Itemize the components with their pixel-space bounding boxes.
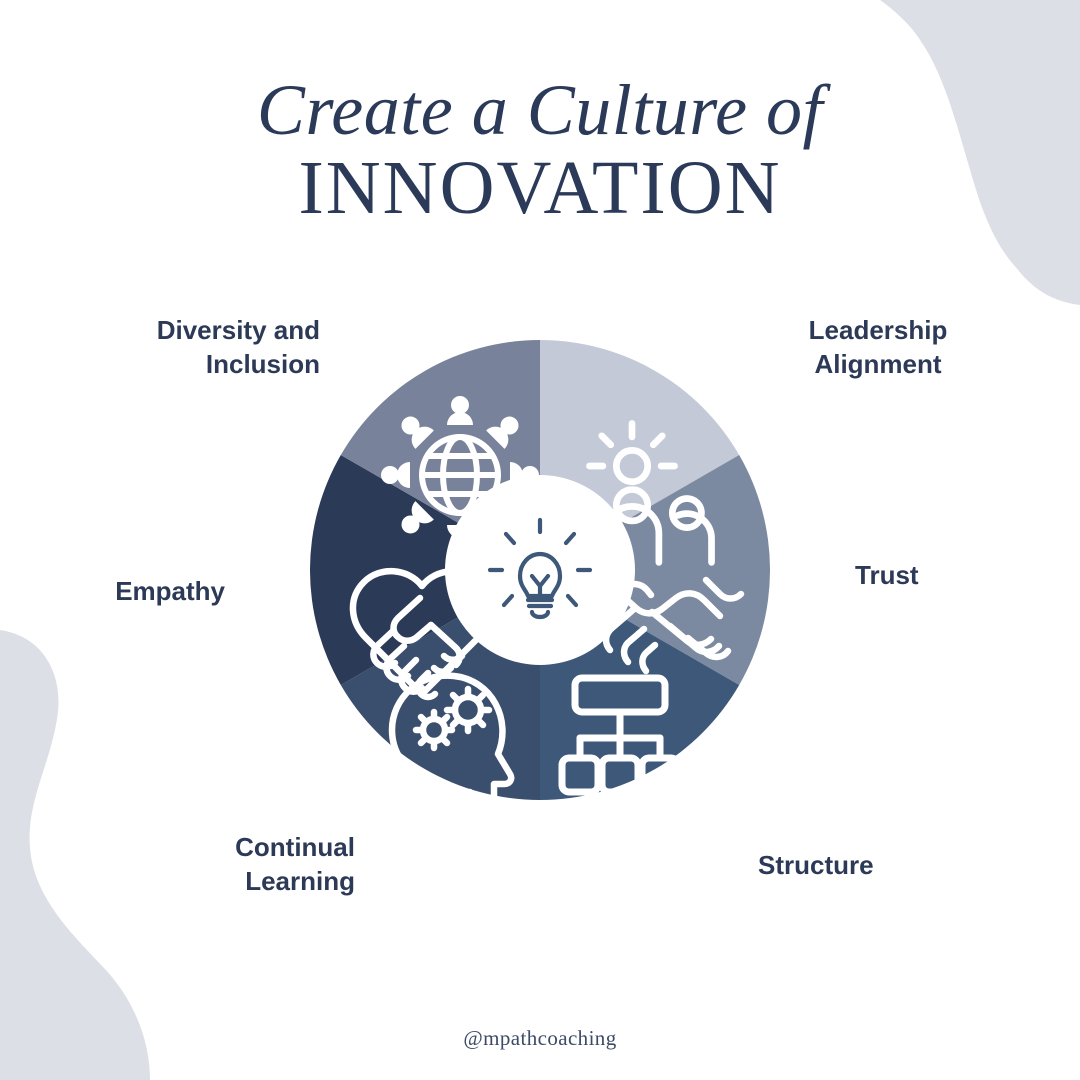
infographic-canvas: Create a Culture of INNOVATION — [0, 0, 1080, 1080]
donut-svg — [310, 340, 770, 800]
label-leadership-alignment: Leadership Alignment — [758, 313, 998, 382]
label-trust: Trust — [855, 558, 995, 592]
innovation-donut-chart — [310, 340, 770, 800]
social-handle: @mpathcoaching — [0, 1026, 1080, 1051]
page-title: Create a Culture of INNOVATION — [0, 74, 1080, 226]
label-diversity-and-inclusion: Diversity and Inclusion — [30, 313, 320, 382]
label-structure: Structure — [758, 848, 998, 882]
title-line-script: Create a Culture of — [0, 74, 1080, 146]
label-empathy: Empathy — [20, 574, 225, 608]
center-hub — [445, 475, 635, 665]
title-line-caps: INNOVATION — [0, 150, 1080, 226]
label-continual-learning: Continual Learning — [100, 830, 355, 899]
